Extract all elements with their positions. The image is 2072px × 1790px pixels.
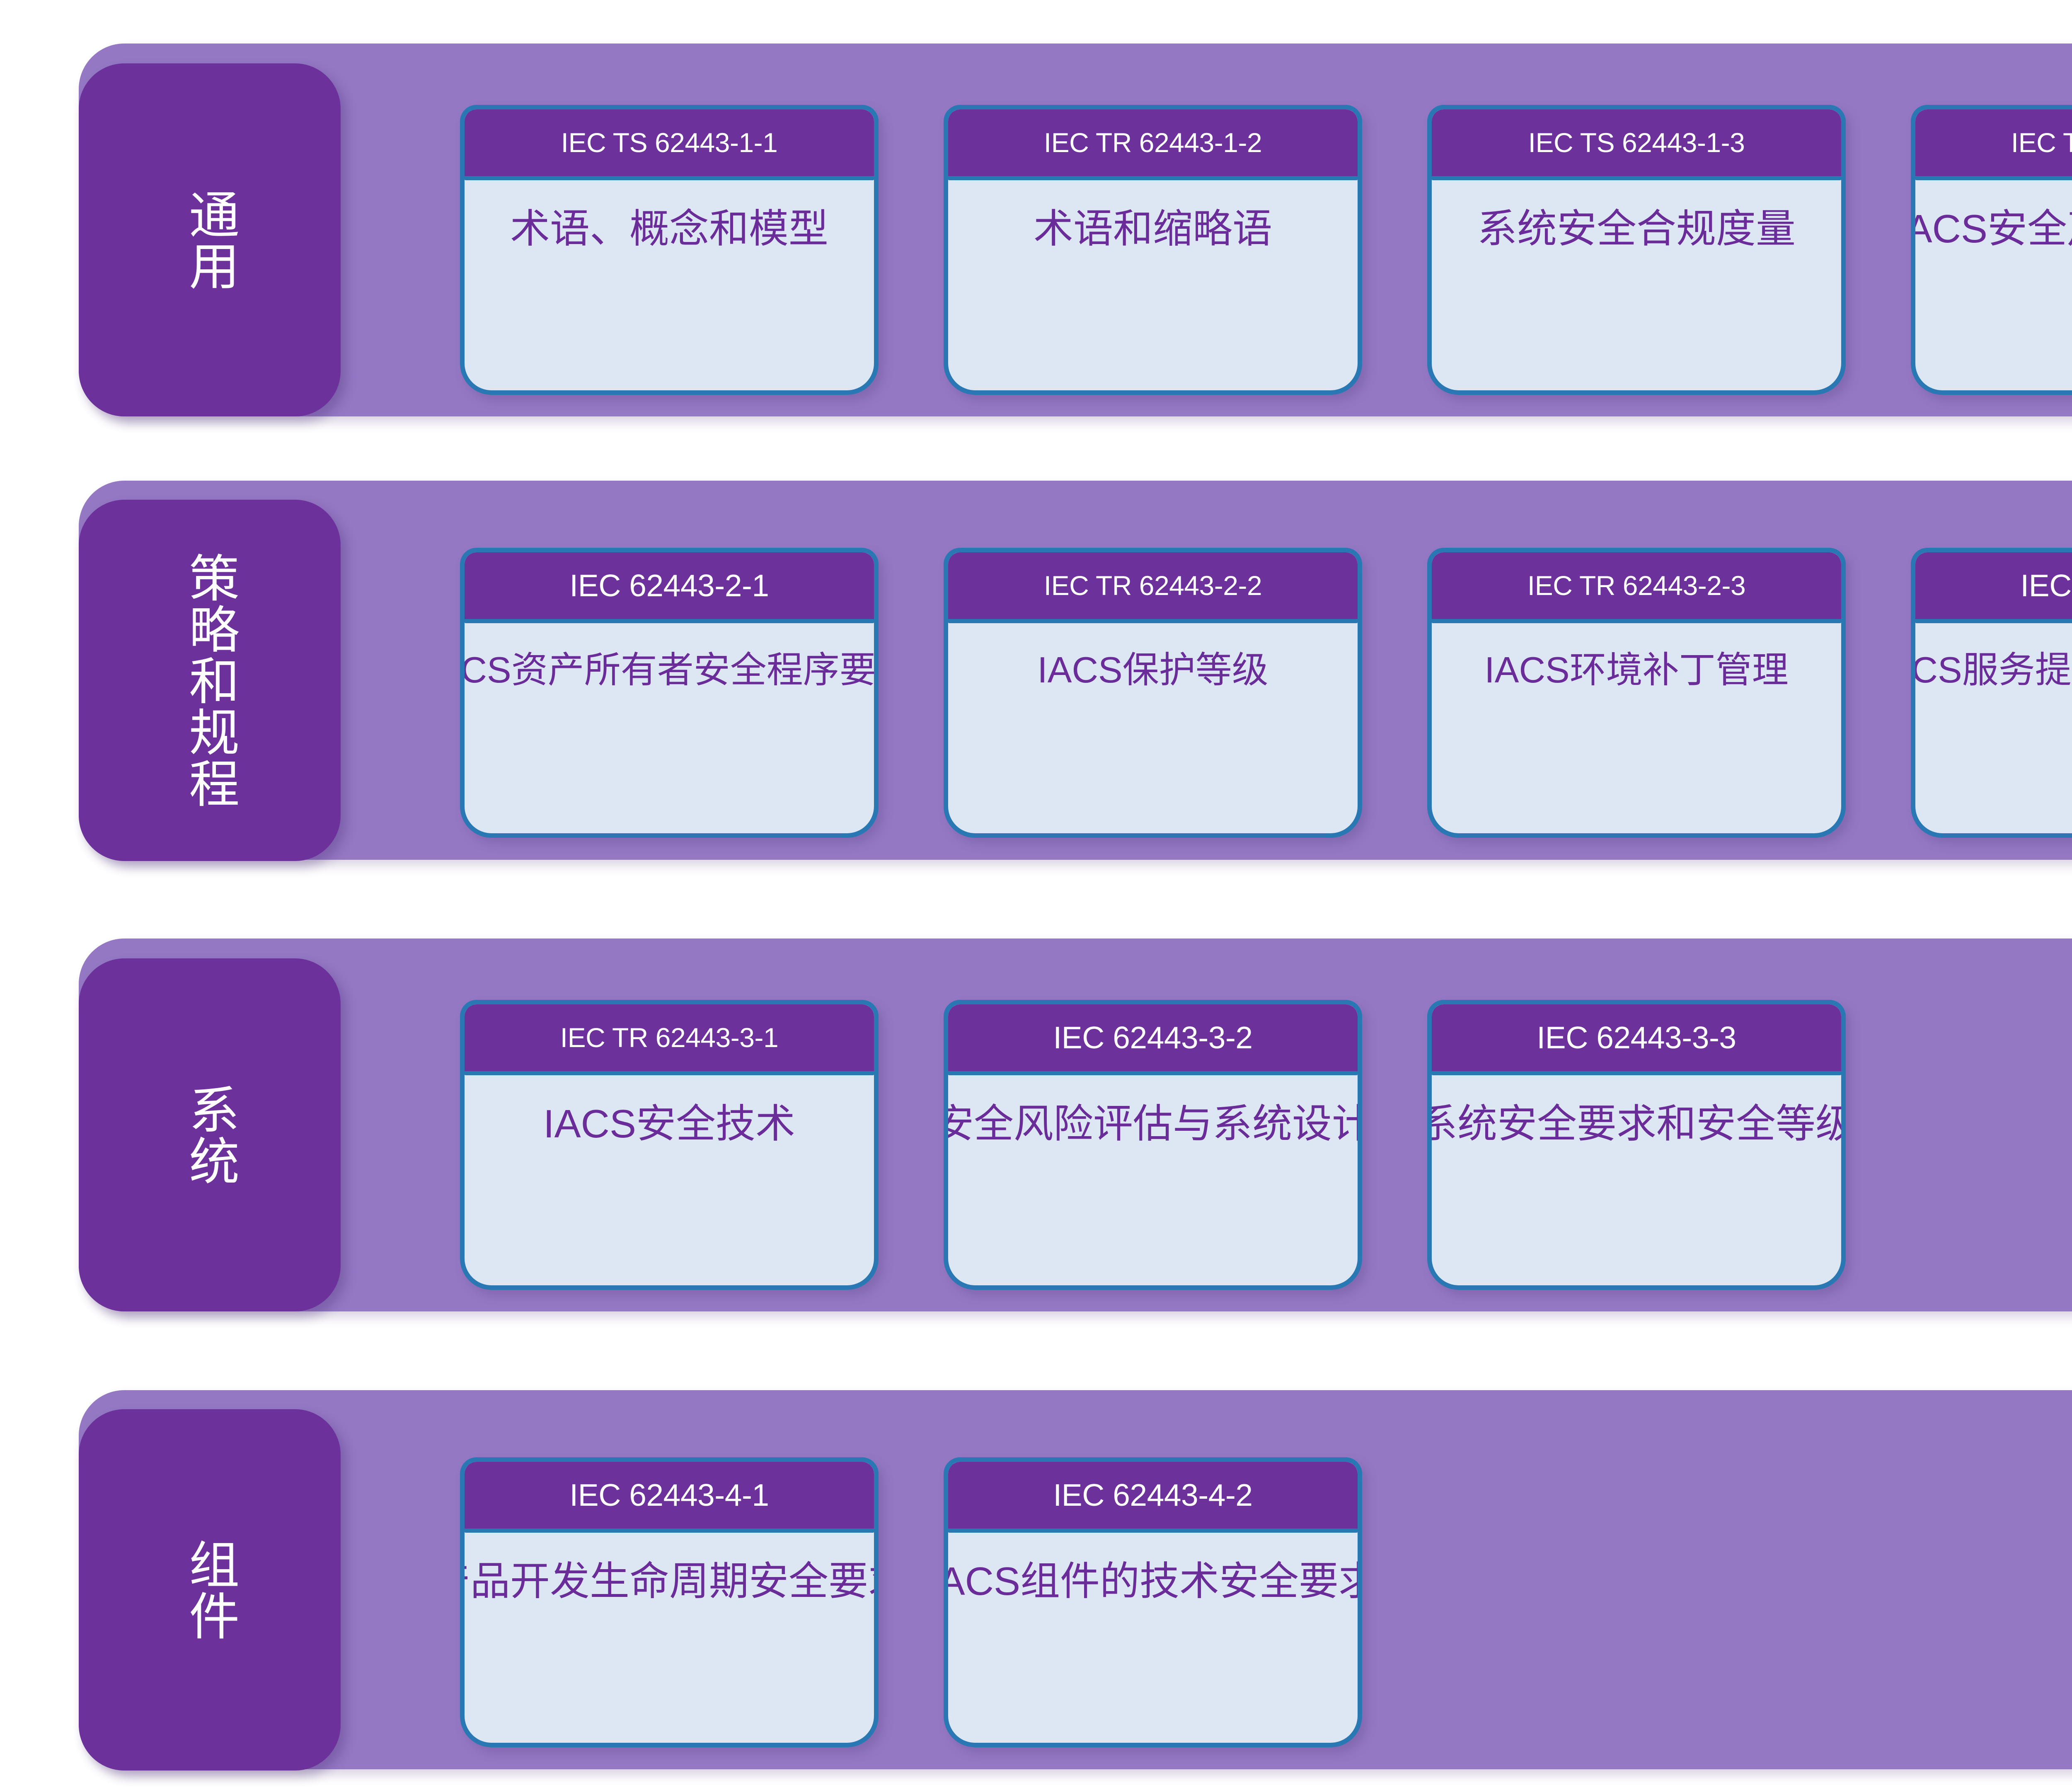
standard-title-body: IACS服务提供商安全程序要求 <box>1915 623 2072 833</box>
standard-code-header: IEC 62443-3-2 <box>948 1004 1358 1075</box>
standard-code: IEC TS 62443-1-3 <box>1528 129 1745 156</box>
standard-code-header: IEC TR 62443-3-1 <box>464 1004 874 1075</box>
standard-code-header: IEC 62443-2-1 <box>464 552 874 623</box>
standard-title: 系统安全合规度量 <box>1477 203 1796 255</box>
standard-title: IACS保护等级 <box>1037 646 1268 694</box>
standard-title-body: IACS安全声明周期和用例 <box>1915 180 2072 390</box>
standard-code: IEC TR 62443-2-2 <box>1044 572 1262 599</box>
standard-code: IEC 62443-4-1 <box>569 1480 769 1511</box>
iec-62443-standards-diagram: 通用 IEC TS 62443-1-1 术语、概念和模型 IEC TR 6244… <box>0 0 2072 1790</box>
card-strip-policies-procedures: IEC 62443-2-1 IACS资产所有者安全程序要求 IEC TR 624… <box>460 548 2072 838</box>
standard-title-body: IACS环境补丁管理 <box>1432 623 1841 833</box>
standard-title: 安全风险评估与系统设计 <box>944 1098 1362 1150</box>
standard-code: IEC TS 62443-1-1 <box>561 129 778 156</box>
standard-title: 术语、概念和模型 <box>510 203 828 255</box>
standard-title-body: 系统安全合规度量 <box>1432 180 1841 390</box>
standard-code: IEC TR 62443-1-2 <box>1044 129 1262 156</box>
standard-title-body: IACS保护等级 <box>948 623 1358 833</box>
standard-code-header: IEC 62443-4-1 <box>464 1461 874 1533</box>
standard-code-header: IEC TR 62443-2-2 <box>948 552 1358 623</box>
standard-code: IEC 62443-2-1 <box>569 570 769 601</box>
standard-title: IACS组件的技术安全要求 <box>944 1556 1362 1608</box>
standards-row-component: 组件 IEC 62443-4-1 产品开发生命周期安全要求 IEC 62443-… <box>79 1390 2072 1769</box>
standard-card[interactable]: IEC TR 62443-1-4 IACS安全声明周期和用例 <box>1911 105 2072 395</box>
standard-code-header: IEC 62443-2-4 <box>1915 552 2072 623</box>
standard-code: IEC 62443-2-4 <box>2020 570 2072 601</box>
category-label-text: 组件 <box>174 1538 245 1641</box>
standard-code-header: IEC TR 62443-2-3 <box>1431 552 1842 623</box>
standard-code: IEC 62443-3-2 <box>1053 1022 1252 1053</box>
card-strip-system: IEC TR 62443-3-1 IACS安全技术 IEC 62443-3-2 … <box>460 1000 2072 1290</box>
standard-title: IACS安全技术 <box>543 1098 795 1150</box>
card-strip-general: IEC TS 62443-1-1 术语、概念和模型 IEC TR 62443-1… <box>460 105 2072 395</box>
standard-title-body: IACS安全技术 <box>465 1075 874 1285</box>
standard-code: IEC 62443-3-3 <box>1537 1022 1736 1053</box>
standard-title: IACS服务提供商安全程序要求 <box>1911 646 2072 694</box>
standard-card[interactable]: IEC TR 62443-2-3 IACS环境补丁管理 <box>1427 548 1846 838</box>
standard-code: IEC TR 62443-2-3 <box>1527 572 1745 599</box>
standard-code-header: IEC 62443-4-2 <box>948 1461 1358 1533</box>
standard-title-body: 产品开发生命周期安全要求 <box>465 1533 874 1743</box>
standard-code: IEC TR 62443-1-4 <box>2011 129 2072 156</box>
standard-card[interactable]: IEC TR 62443-1-2 术语和缩略语 <box>944 105 1362 395</box>
category-label-system: 系统 <box>79 958 341 1311</box>
standard-title: 系统安全要求和安全等级 <box>1427 1098 1846 1150</box>
standard-title-body: 术语、概念和模型 <box>465 180 874 390</box>
standard-card[interactable]: IEC TS 62443-1-1 术语、概念和模型 <box>460 105 879 395</box>
category-label-text: 通用 <box>174 189 245 291</box>
standard-code-header: IEC TR 62443-1-4 <box>1915 109 2072 180</box>
standard-code-header: IEC TR 62443-1-2 <box>948 109 1358 180</box>
standard-card[interactable]: IEC 62443-3-2 安全风险评估与系统设计 <box>944 1000 1362 1290</box>
standard-title: IACS资产所有者安全程序要求 <box>460 646 879 694</box>
standards-row-general: 通用 IEC TS 62443-1-1 术语、概念和模型 IEC TR 6244… <box>79 44 2072 416</box>
category-label-policies-procedures: 策略和规程 <box>79 500 341 861</box>
standard-card[interactable]: IEC 62443-4-1 产品开发生命周期安全要求 <box>460 1457 879 1747</box>
card-strip-component: IEC 62443-4-1 产品开发生命周期安全要求 IEC 62443-4-2… <box>460 1457 2072 1747</box>
standard-card[interactable]: IEC TS 62443-1-3 系统安全合规度量 <box>1427 105 1846 395</box>
standard-code-header: IEC TS 62443-1-1 <box>464 109 874 180</box>
standard-title-body: 安全风险评估与系统设计 <box>948 1075 1358 1285</box>
category-label-text: 策略和规程 <box>174 552 245 809</box>
standard-code-header: IEC 62443-3-3 <box>1431 1004 1842 1075</box>
standard-code: IEC 62443-4-2 <box>1053 1480 1252 1511</box>
standard-title-body: IACS组件的技术安全要求 <box>948 1533 1358 1743</box>
standard-card[interactable]: IEC TR 62443-2-2 IACS保护等级 <box>944 548 1362 838</box>
category-label-component: 组件 <box>79 1409 341 1771</box>
standard-card[interactable]: IEC 62443-4-2 IACS组件的技术安全要求 <box>944 1457 1362 1747</box>
standard-title: IACS安全声明周期和用例 <box>1911 203 2072 255</box>
standard-title: 产品开发生命周期安全要求 <box>460 1556 879 1608</box>
standard-title: IACS环境补丁管理 <box>1484 646 1788 694</box>
standard-card[interactable]: IEC TR 62443-3-1 IACS安全技术 <box>460 1000 879 1290</box>
standard-title: 术语和缩略语 <box>1034 203 1272 255</box>
standards-row-policies-procedures: 策略和规程 IEC 62443-2-1 IACS资产所有者安全程序要求 IEC … <box>79 481 2072 860</box>
standard-title-body: 系统安全要求和安全等级 <box>1432 1075 1841 1285</box>
standard-card[interactable]: IEC 62443-3-3 系统安全要求和安全等级 <box>1427 1000 1846 1290</box>
standards-row-system: 系统 IEC TR 62443-3-1 IACS安全技术 IEC 62443-3… <box>79 939 2072 1311</box>
standard-title-body: 术语和缩略语 <box>948 180 1358 390</box>
category-label-general: 通用 <box>79 63 341 416</box>
standard-card[interactable]: IEC 62443-2-4 IACS服务提供商安全程序要求 <box>1911 548 2072 838</box>
standard-code-header: IEC TS 62443-1-3 <box>1431 109 1842 180</box>
standard-title-body: IACS资产所有者安全程序要求 <box>465 623 874 833</box>
standard-code: IEC TR 62443-3-1 <box>560 1024 778 1051</box>
category-label-text: 系统 <box>174 1084 245 1186</box>
standard-card[interactable]: IEC 62443-2-1 IACS资产所有者安全程序要求 <box>460 548 879 838</box>
